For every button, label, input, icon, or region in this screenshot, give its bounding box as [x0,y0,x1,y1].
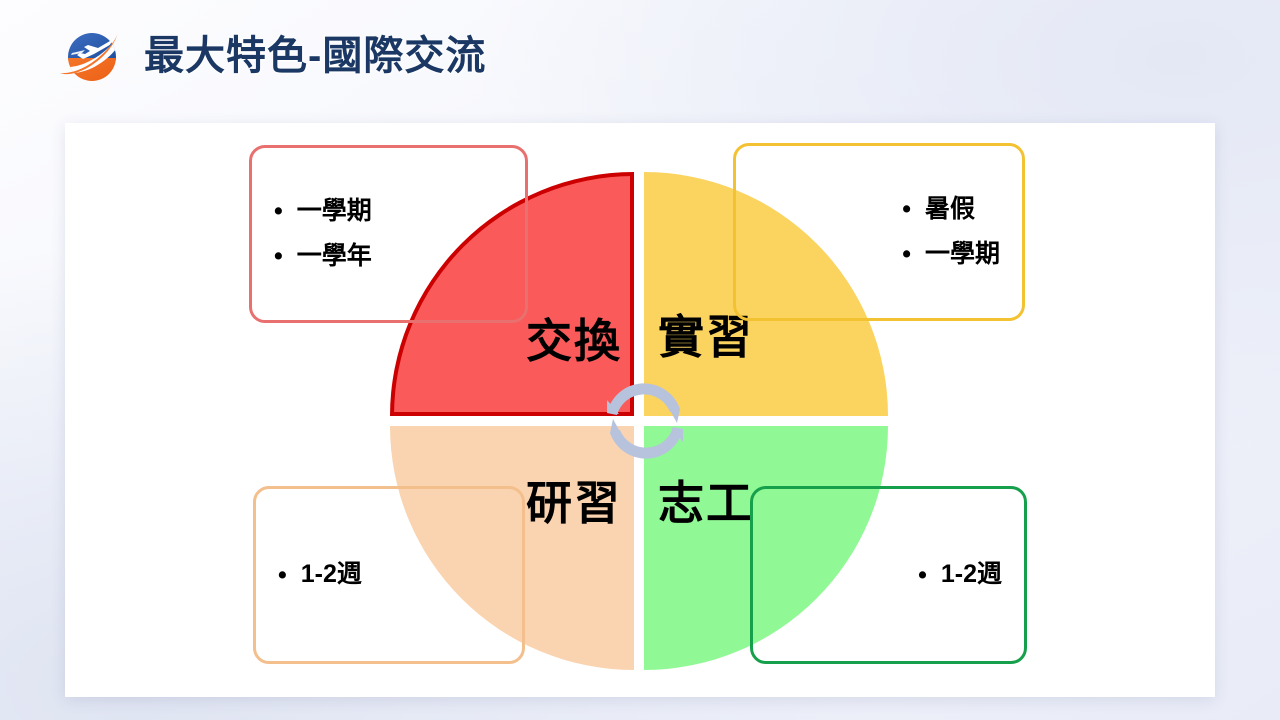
globe-airplane-logo-icon [58,26,130,86]
list-item: 一學期 [902,232,1000,278]
callout-internship-list: 暑假 一學期 [902,187,1000,278]
cycle-arrows-icon [595,371,695,471]
callout-workshop[interactable]: 1-2週 [253,486,525,664]
callout-exchange-list: 一學期 一學年 [274,189,525,280]
quadrant-workshop-label: 研習 [526,480,622,526]
quadrant-internship-label: 實習 [658,314,754,360]
quadrant-exchange-label: 交換 [526,318,622,364]
callout-volunteer-list: 1-2週 [918,552,1002,598]
page-title: 最大特色-國際交流 [144,36,486,76]
callout-exchange[interactable]: 一學期 一學年 [249,145,528,323]
list-item: 1-2週 [918,552,1002,598]
list-item: 暑假 [902,187,1000,233]
list-item: 一學期 [274,189,525,235]
page-header: 最大特色-國際交流 [58,26,486,86]
callout-volunteer[interactable]: 1-2週 [750,486,1027,664]
list-item: 1-2週 [278,552,522,598]
quadrant-volunteer-label: 志工 [658,480,754,526]
callout-workshop-list: 1-2週 [278,552,522,598]
list-item: 一學年 [274,234,525,280]
callout-internship[interactable]: 暑假 一學期 [733,143,1025,321]
